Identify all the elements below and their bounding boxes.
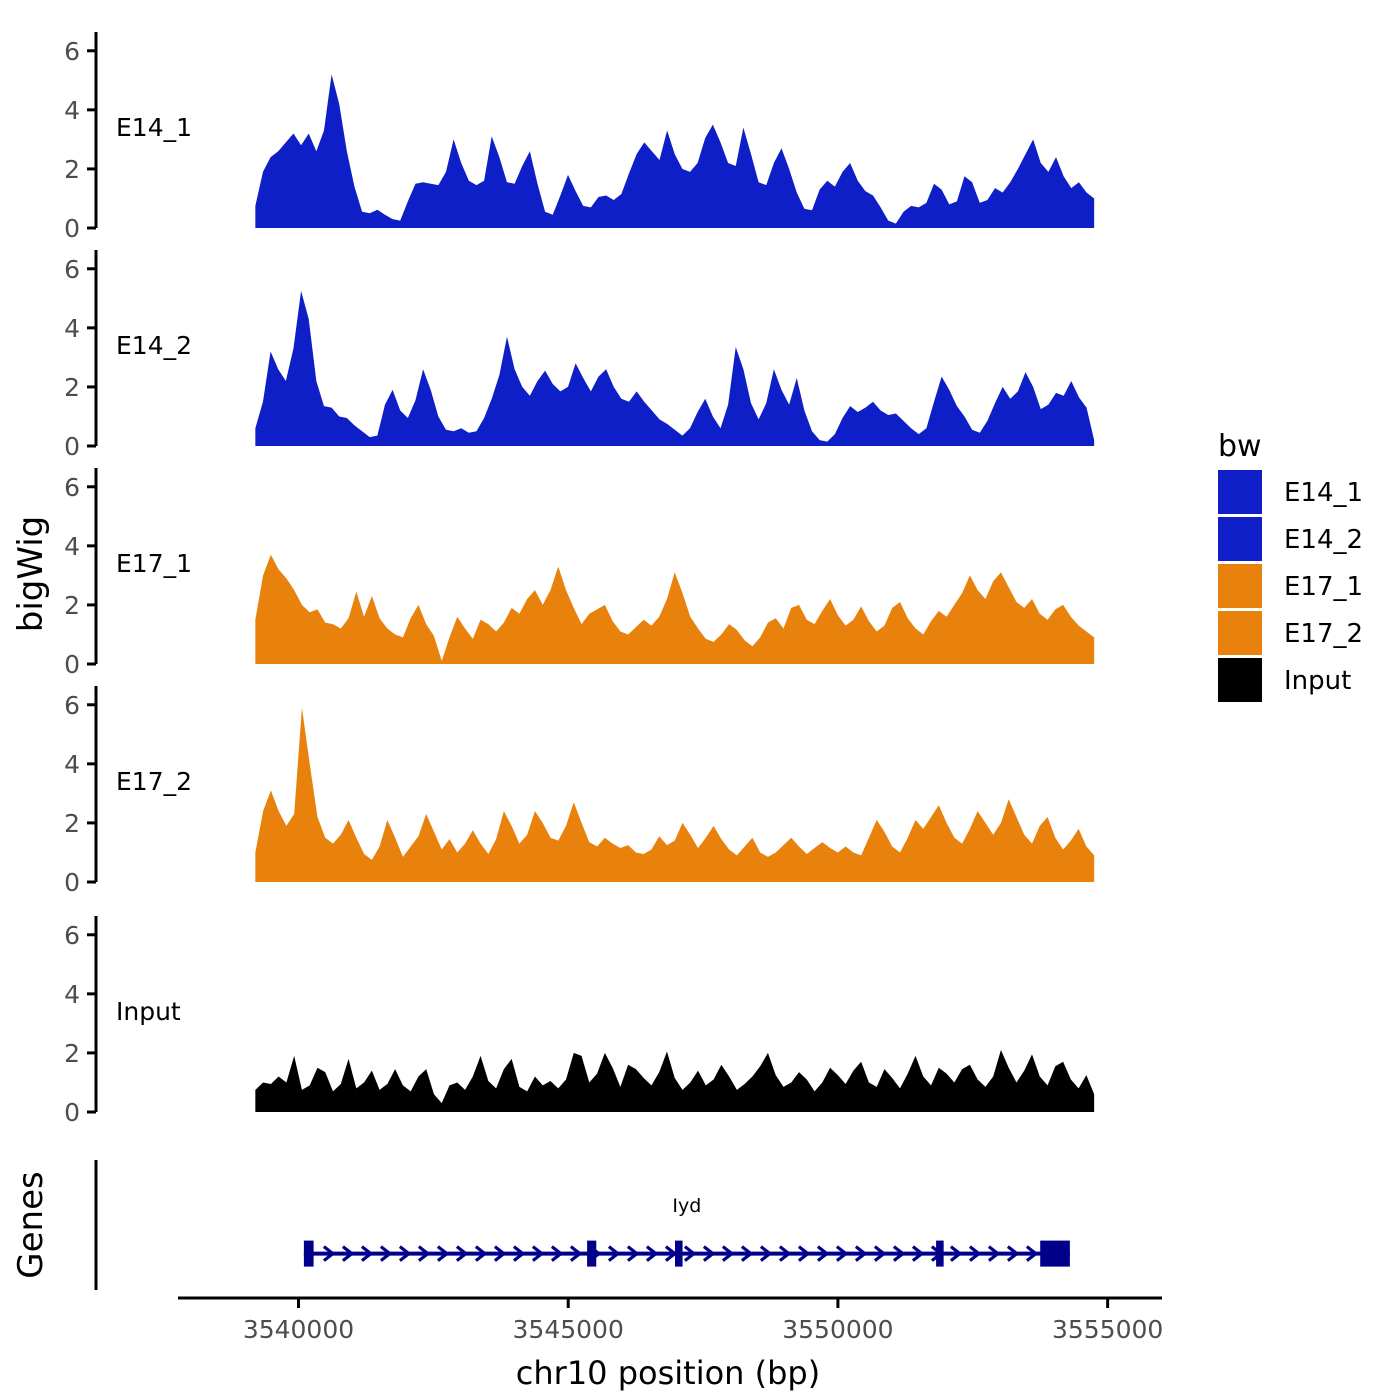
y-tick-label-E14_1-0: 0 [64, 214, 80, 243]
x-axis-title: chr10 position (bp) [516, 1354, 820, 1392]
track-panel-E14_1: 0246E14_1 [64, 32, 1094, 243]
y-tick-label-E14_2-2: 2 [64, 373, 80, 402]
panel-label-E17_2: E17_2 [116, 767, 192, 796]
gene-exon-2 [587, 1241, 596, 1267]
y-tick-label-Input-0: 0 [64, 1098, 80, 1127]
track-panel-E17_1: 0246E17_1 [64, 468, 1094, 679]
gene-name-label: Iyd [672, 1195, 701, 1217]
x-tick-label-3555000: 3555000 [1052, 1315, 1163, 1344]
y-tick-label-E14_1-2: 2 [64, 155, 80, 184]
y-tick-label-E17_2-2: 2 [64, 809, 80, 838]
figure-canvas: 0246E14_10246E14_20246E17_10246E17_20246… [0, 0, 1400, 1400]
bigwig-genome-browser-figure: 0246E14_10246E14_20246E17_10246E17_20246… [0, 0, 1400, 1400]
track-panel-E14_2: 0246E14_2 [64, 250, 1094, 461]
panel-label-E17_1: E17_1 [116, 549, 192, 578]
x-tick-label-3545000: 3545000 [513, 1315, 624, 1344]
y-tick-label-E17_2-0: 0 [64, 868, 80, 897]
gene-exon-3 [675, 1241, 683, 1267]
x-tick-label-3540000: 3540000 [243, 1315, 354, 1344]
panel-label-E14_1: E14_1 [116, 113, 192, 142]
y-tick-label-E17_1-2: 2 [64, 591, 80, 620]
legend-swatch-E17_2[interactable] [1218, 611, 1262, 655]
track-panel-Input: 0246Input [64, 916, 1094, 1127]
y-tick-label-E17_1-4: 4 [64, 532, 80, 561]
y-tick-label-E14_1-4: 4 [64, 96, 80, 125]
y-tick-label-E17_2-4: 4 [64, 750, 80, 779]
y-tick-label-Input-4: 4 [64, 980, 80, 1009]
gene-exon-1 [304, 1241, 314, 1267]
legend-label-E14_1: E14_1 [1284, 478, 1363, 508]
panel-label-E14_2: E14_2 [116, 331, 192, 360]
y-tick-label-Input-6: 6 [64, 921, 80, 950]
y-tick-label-E14_1-6: 6 [64, 37, 80, 66]
legend-label-Input: Input [1284, 666, 1351, 696]
gene-exon-4 [936, 1241, 944, 1267]
legend-label-E17_1: E17_1 [1284, 572, 1363, 602]
legend-swatch-E14_2[interactable] [1218, 517, 1262, 561]
y-tick-label-E17_1-0: 0 [64, 650, 80, 679]
y-tick-label-E14_2-0: 0 [64, 432, 80, 461]
y-tick-label-Input-2: 2 [64, 1039, 80, 1068]
signal-area-E14_1 [255, 74, 1094, 228]
track-panel-E17_2: 0246E17_2 [64, 686, 1094, 897]
y-tick-label-E14_2-4: 4 [64, 314, 80, 343]
y-tick-label-E17_2-6: 6 [64, 691, 80, 720]
signal-area-E17_1 [255, 555, 1094, 664]
legend-label-E17_2: E17_2 [1284, 619, 1363, 649]
signal-area-E17_2 [255, 708, 1094, 882]
legend-title: bw [1218, 429, 1262, 464]
signal-area-E14_2 [255, 291, 1094, 446]
legend-swatch-E14_1[interactable] [1218, 470, 1262, 514]
y-axis-title: bigWig [11, 516, 51, 633]
y-tick-label-E14_2-6: 6 [64, 255, 80, 284]
legend: bwE14_1E14_2E17_1E17_2Input [1218, 429, 1363, 702]
panel-label-Input: Input [116, 997, 181, 1026]
legend-swatch-E17_1[interactable] [1218, 564, 1262, 608]
gene-exon-5 [1040, 1241, 1070, 1267]
x-tick-label-3550000: 3550000 [782, 1315, 893, 1344]
signal-area-Input [255, 1050, 1094, 1112]
genes-panel: GenesIyd [11, 1160, 1070, 1290]
legend-swatch-Input[interactable] [1218, 658, 1262, 702]
legend-label-E14_2: E14_2 [1284, 525, 1363, 555]
y-tick-label-E17_1-6: 6 [64, 473, 80, 502]
genes-axis-title: Genes [11, 1171, 51, 1278]
x-axis: 3540000354500035500003555000chr10 positi… [178, 1298, 1163, 1392]
